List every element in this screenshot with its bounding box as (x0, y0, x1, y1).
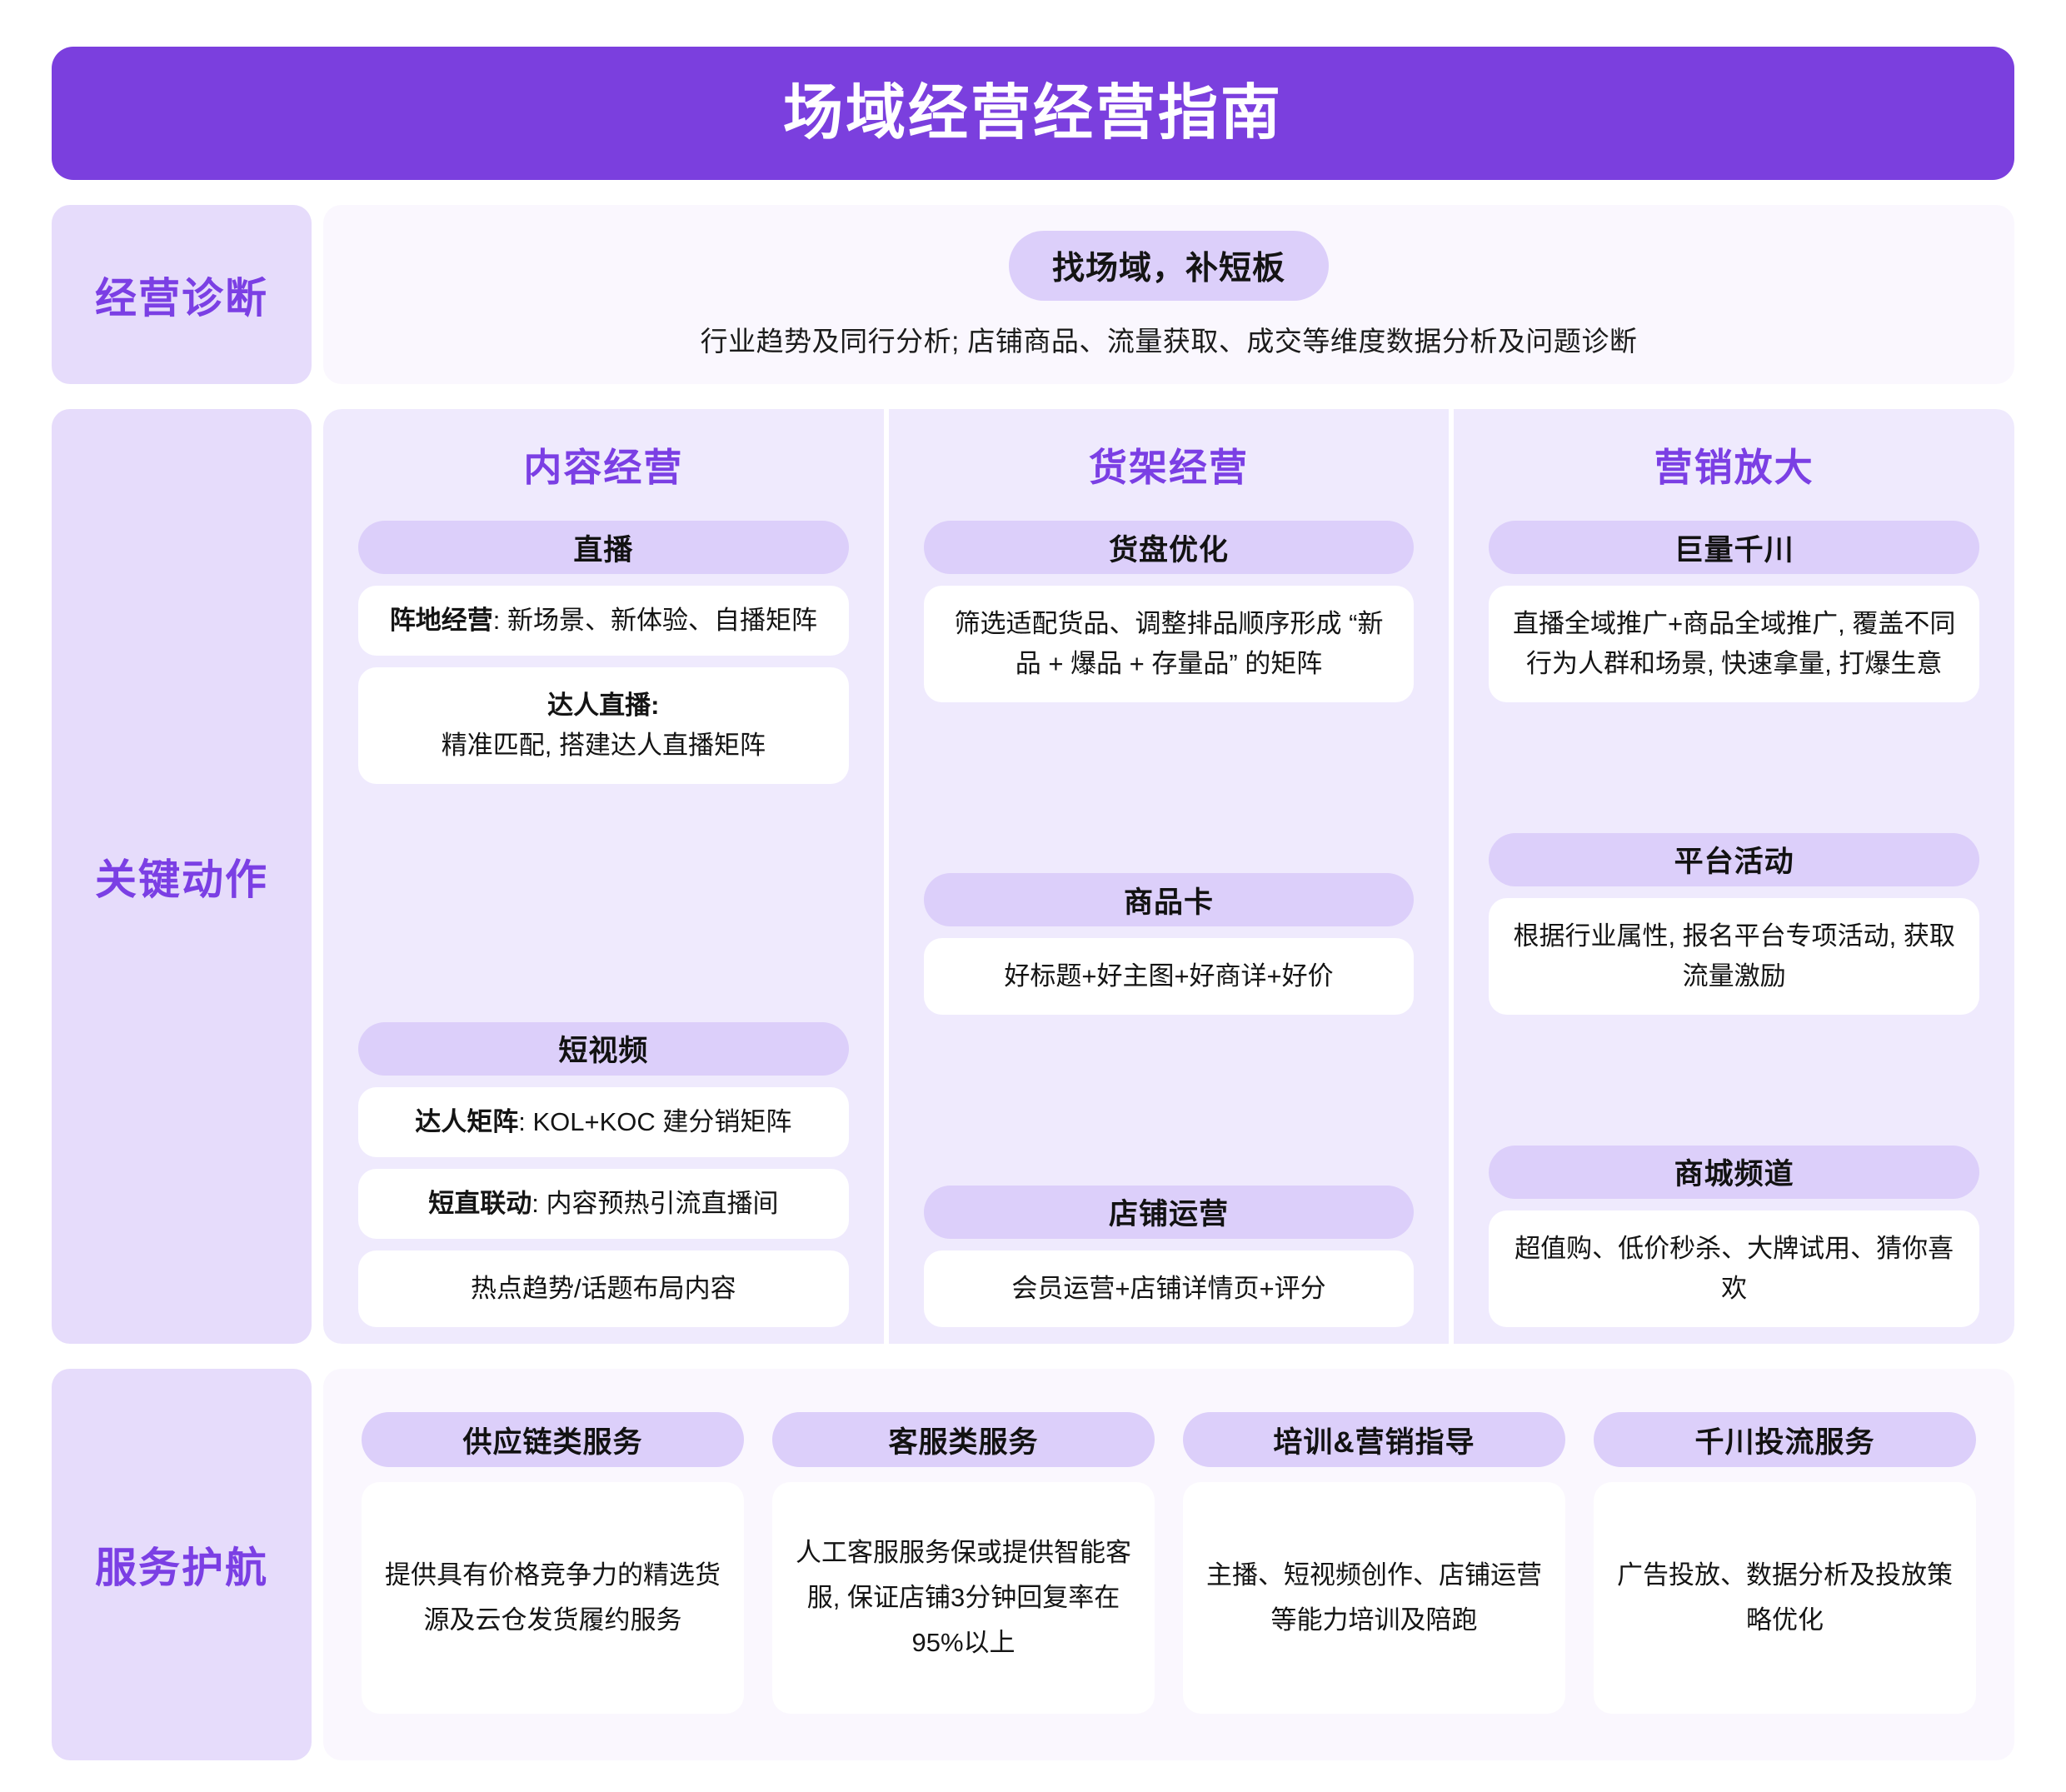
key-action-column: 货架经营货盘优化筛选适配货品、调整排品顺序形成 “新品 + 爆品 + 存量品” … (889, 409, 1450, 1344)
service-content: 供应链类服务提供具有价格竞争力的精选货源及云仓发货履约服务客服类服务人工客服服务… (323, 1369, 2014, 1760)
key-action-group: 短视频达人矩阵: KOL+KOC 建分销矩阵短直联动: 内容预热引流直播间热点趋… (358, 1022, 849, 1327)
key-action-group: 直播阵地经营: 新场景、新体验、自播矩阵达人直播:精准匹配, 搭建达人直播矩阵 (358, 521, 849, 784)
key-action-column: 营销放大巨量千川直播全域推广+商品全域推广, 覆盖不同行为人群和场景, 快速拿量… (1454, 409, 2014, 1344)
service-column-pill[interactable]: 千川投流服务 (1594, 1412, 1976, 1467)
section-label-service: 服务护航 (52, 1369, 312, 1760)
key-action-card: 好标题+好主图+好商详+好价 (924, 938, 1415, 1015)
section-label-diagnosis: 经营诊断 (52, 205, 312, 384)
key-action-column: 内容经营直播阵地经营: 新场景、新体验、自播矩阵达人直播:精准匹配, 搭建达人直… (323, 409, 884, 1344)
key-action-group: 商城频道超值购、低价秒杀、大牌试用、猜你喜欢 (1489, 1146, 1979, 1327)
key-action-group-list: 直播阵地经营: 新场景、新体验、自播矩阵达人直播:精准匹配, 搭建达人直播矩阵短… (358, 521, 849, 1327)
key-action-card-text: 超值购、低价秒杀、大牌试用、猜你喜欢 (1515, 1234, 1954, 1303)
key-action-card: 达人矩阵: KOL+KOC 建分销矩阵 (358, 1087, 849, 1157)
service-column: 客服类服务人工客服服务保或提供智能客服, 保证店铺3分钟回复率在95%以上 (772, 1412, 1155, 1714)
key-action-card-text: 新场景、新体验、自播矩阵 (507, 606, 817, 635)
key-action-card: 超值购、低价秒杀、大牌试用、猜你喜欢 (1489, 1210, 1979, 1327)
service-column-card: 提供具有价格竞争力的精选货源及云仓发货履约服务 (362, 1482, 744, 1714)
key-action-group-pill[interactable]: 商品卡 (924, 873, 1415, 926)
diagnosis-panel: 找场域，补短板 行业趋势及同行分析; 店铺商品、流量获取、成交等维度数据分析及问… (323, 205, 2014, 384)
key-action-card: 短直联动: 内容预热引流直播间 (358, 1169, 849, 1239)
key-action-card-text: 热点趋势/话题布局内容 (471, 1274, 736, 1303)
key-action-column-title: 营销放大 (1489, 437, 1979, 492)
key-action-card-text: 精准匹配, 搭建达人直播矩阵 (442, 731, 766, 760)
service-column: 供应链类服务提供具有价格竞争力的精选货源及云仓发货履约服务 (362, 1412, 744, 1714)
section-service: 服务护航 供应链类服务提供具有价格竞争力的精选货源及云仓发货履约服务客服类服务人… (52, 1369, 2014, 1760)
key-action-card-text: 好标题+好主图+好商详+好价 (1004, 961, 1333, 991)
service-column-card: 主播、短视频创作、店铺运营等能力培训及陪跑 (1183, 1482, 1565, 1714)
key-action-group-pill[interactable]: 商城频道 (1489, 1146, 1979, 1199)
diagnosis-headline-pill: 找场域，补短板 (1009, 231, 1329, 301)
key-action-group-pill[interactable]: 货盘优化 (924, 521, 1415, 574)
key-action-card-term: 阵地经营 (390, 606, 493, 635)
key-action-column-title: 内容经营 (358, 437, 849, 492)
key-action-card-text: 会员运营+店铺详情页+评分 (1011, 1274, 1325, 1303)
key-action-card: 根据行业属性, 报名平台专项活动, 获取流量激励 (1489, 898, 1979, 1015)
key-action-card: 热点趋势/话题布局内容 (358, 1250, 849, 1327)
section-label-key-actions-text: 关键动作 (95, 846, 268, 906)
service-column: 培训&营销指导主播、短视频创作、店铺运营等能力培训及陪跑 (1183, 1412, 1565, 1714)
key-actions-content: 内容经营直播阵地经营: 新场景、新体验、自播矩阵达人直播:精准匹配, 搭建达人直… (323, 409, 2014, 1344)
section-label-service-text: 服务护航 (95, 1535, 268, 1595)
key-action-group-pill[interactable]: 短视频 (358, 1022, 849, 1076)
section-label-key-actions: 关键动作 (52, 409, 312, 1344)
page-title: 场域经营经营指南 (783, 83, 1283, 143)
service-column-card: 广告投放、数据分析及投放策略优化 (1594, 1482, 1976, 1714)
section-diagnosis: 经营诊断 找场域，补短板 行业趋势及同行分析; 店铺商品、流量获取、成交等维度数… (52, 205, 2014, 384)
diagnosis-content: 找场域，补短板 行业趋势及同行分析; 店铺商品、流量获取、成交等维度数据分析及问… (323, 205, 2014, 384)
key-action-group: 商品卡好标题+好主图+好商详+好价 (924, 873, 1415, 1015)
service-column-pill[interactable]: 培训&营销指导 (1183, 1412, 1565, 1467)
key-action-group-pill[interactable]: 平台活动 (1489, 833, 1979, 886)
key-action-group-pill[interactable]: 直播 (358, 521, 849, 574)
service-column-pill[interactable]: 供应链类服务 (362, 1412, 744, 1467)
key-action-group: 平台活动根据行业属性, 报名平台专项活动, 获取流量激励 (1489, 833, 1979, 1015)
service-columns: 供应链类服务提供具有价格竞争力的精选货源及云仓发货履约服务客服类服务人工客服服务… (323, 1369, 2014, 1760)
key-action-group-pill[interactable]: 店铺运营 (924, 1186, 1415, 1239)
key-action-column-title: 货架经营 (924, 437, 1415, 492)
page-banner: 场域经营经营指南 (52, 47, 2014, 180)
section-key-actions: 关键动作 内容经营直播阵地经营: 新场景、新体验、自播矩阵达人直播:精准匹配, … (52, 409, 2014, 1344)
key-action-group: 货盘优化筛选适配货品、调整排品顺序形成 “新品 + 爆品 + 存量品” 的矩阵 (924, 521, 1415, 702)
key-action-group-list: 巨量千川直播全域推广+商品全域推广, 覆盖不同行为人群和场景, 快速拿量, 打爆… (1489, 521, 1979, 1327)
key-action-group: 店铺运营会员运营+店铺详情页+评分 (924, 1186, 1415, 1327)
key-action-group-pill[interactable]: 巨量千川 (1489, 521, 1979, 574)
key-action-card: 达人直播:精准匹配, 搭建达人直播矩阵 (358, 667, 849, 784)
key-action-card: 直播全域推广+商品全域推广, 覆盖不同行为人群和场景, 快速拿量, 打爆生意 (1489, 586, 1979, 702)
key-action-card-text: 直播全域推广+商品全域推广, 覆盖不同行为人群和场景, 快速拿量, 打爆生意 (1513, 609, 1955, 678)
key-action-card-term: 达人直播: (547, 691, 659, 720)
key-action-card: 阵地经营: 新场景、新体验、自播矩阵 (358, 586, 849, 656)
diagnosis-description: 行业趋势及同行分析; 店铺商品、流量获取、成交等维度数据分析及问题诊断 (701, 319, 1638, 359)
key-action-group-list: 货盘优化筛选适配货品、调整排品顺序形成 “新品 + 爆品 + 存量品” 的矩阵商… (924, 521, 1415, 1327)
key-action-card-text: 内容预热引流直播间 (546, 1189, 778, 1218)
key-action-card-term: 达人矩阵 (415, 1107, 518, 1136)
key-action-card-term: 短直联动 (428, 1189, 531, 1218)
key-action-card: 会员运营+店铺详情页+评分 (924, 1250, 1415, 1327)
service-column-card: 人工客服服务保或提供智能客服, 保证店铺3分钟回复率在95%以上 (772, 1482, 1155, 1714)
section-label-diagnosis-text: 经营诊断 (95, 265, 268, 325)
service-column: 千川投流服务广告投放、数据分析及投放策略优化 (1594, 1412, 1976, 1714)
key-actions-columns: 内容经营直播阵地经营: 新场景、新体验、自播矩阵达人直播:精准匹配, 搭建达人直… (323, 409, 2014, 1344)
key-action-card-text: KOL+KOC 建分销矩阵 (532, 1107, 791, 1136)
key-action-card-text: 筛选适配货品、调整排品顺序形成 “新品 + 爆品 + 存量品” 的矩阵 (955, 609, 1384, 678)
key-action-card: 筛选适配货品、调整排品顺序形成 “新品 + 爆品 + 存量品” 的矩阵 (924, 586, 1415, 702)
infographic-page: 场域经营经营指南 经营诊断 找场域，补短板 行业趋势及同行分析; 店铺商品、流量… (0, 0, 2066, 1792)
key-action-group: 巨量千川直播全域推广+商品全域推广, 覆盖不同行为人群和场景, 快速拿量, 打爆… (1489, 521, 1979, 702)
service-column-pill[interactable]: 客服类服务 (772, 1412, 1155, 1467)
key-action-card-text: 根据行业属性, 报名平台专项活动, 获取流量激励 (1513, 921, 1954, 991)
